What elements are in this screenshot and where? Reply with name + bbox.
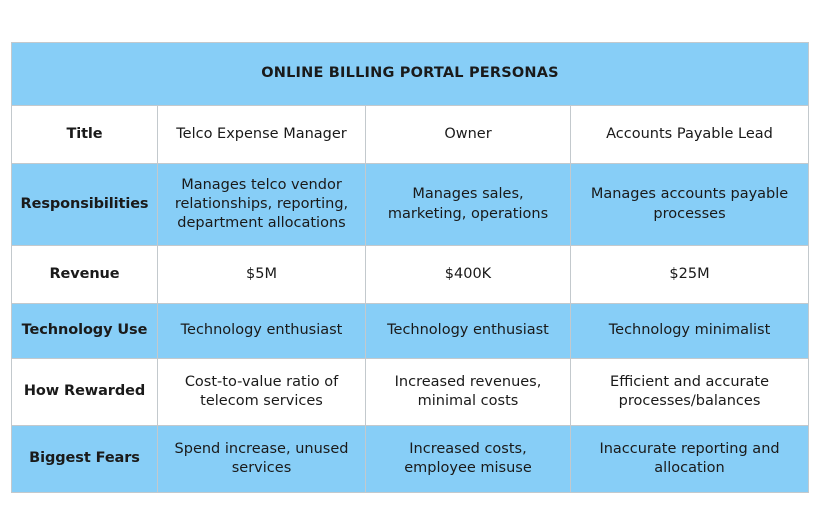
cell-technology-use-persona-1: Technology enthusiast [158, 304, 366, 359]
table-row-title: Title Telco Expense Manager Owner Accoun… [12, 106, 809, 164]
table-row-how-rewarded: How Rewarded Cost-to-value ratio of tele… [12, 359, 809, 426]
row-label-revenue: Revenue [12, 246, 158, 304]
cell-how-rewarded-persona-1: Cost-to-value ratio of telecom services [158, 359, 366, 426]
table-title-row: ONLINE BILLING PORTAL PERSONAS [12, 43, 809, 106]
cell-revenue-persona-3: $25M [571, 246, 809, 304]
cell-responsibilities-persona-2: Manages sales, marketing, operations [366, 164, 571, 246]
table-title: ONLINE BILLING PORTAL PERSONAS [12, 43, 809, 106]
cell-technology-use-persona-3: Technology minimalist [571, 304, 809, 359]
cell-biggest-fears-persona-1: Spend increase, unused services [158, 426, 366, 493]
cell-title-persona-3: Accounts Payable Lead [571, 106, 809, 164]
table-row-technology-use: Technology Use Technology enthusiast Tec… [12, 304, 809, 359]
row-label-biggest-fears: Biggest Fears [12, 426, 158, 493]
cell-how-rewarded-persona-3: Efficient and accurate processes/balance… [571, 359, 809, 426]
table-row-biggest-fears: Biggest Fears Spend increase, unused ser… [12, 426, 809, 493]
row-label-responsibilities: Responsibilities [12, 164, 158, 246]
cell-technology-use-persona-2: Technology enthusiast [366, 304, 571, 359]
row-label-technology-use: Technology Use [12, 304, 158, 359]
table-row-responsibilities: Responsibilities Manages telco vendor re… [12, 164, 809, 246]
cell-title-persona-2: Owner [366, 106, 571, 164]
persona-comparison-table: ONLINE BILLING PORTAL PERSONAS Title Tel… [11, 42, 809, 493]
row-label-title: Title [12, 106, 158, 164]
cell-revenue-persona-1: $5M [158, 246, 366, 304]
table-row-revenue: Revenue $5M $400K $25M [12, 246, 809, 304]
cell-responsibilities-persona-1: Manages telco vendor relationships, repo… [158, 164, 366, 246]
row-label-how-rewarded: How Rewarded [12, 359, 158, 426]
cell-title-persona-1: Telco Expense Manager [158, 106, 366, 164]
cell-responsibilities-persona-3: Manages accounts payable processes [571, 164, 809, 246]
cell-biggest-fears-persona-3: Inaccurate reporting and allocation [571, 426, 809, 493]
cell-revenue-persona-2: $400K [366, 246, 571, 304]
cell-how-rewarded-persona-2: Increased revenues, minimal costs [366, 359, 571, 426]
persona-table-container: ONLINE BILLING PORTAL PERSONAS Title Tel… [11, 42, 808, 492]
cell-biggest-fears-persona-2: Increased costs, employee misuse [366, 426, 571, 493]
